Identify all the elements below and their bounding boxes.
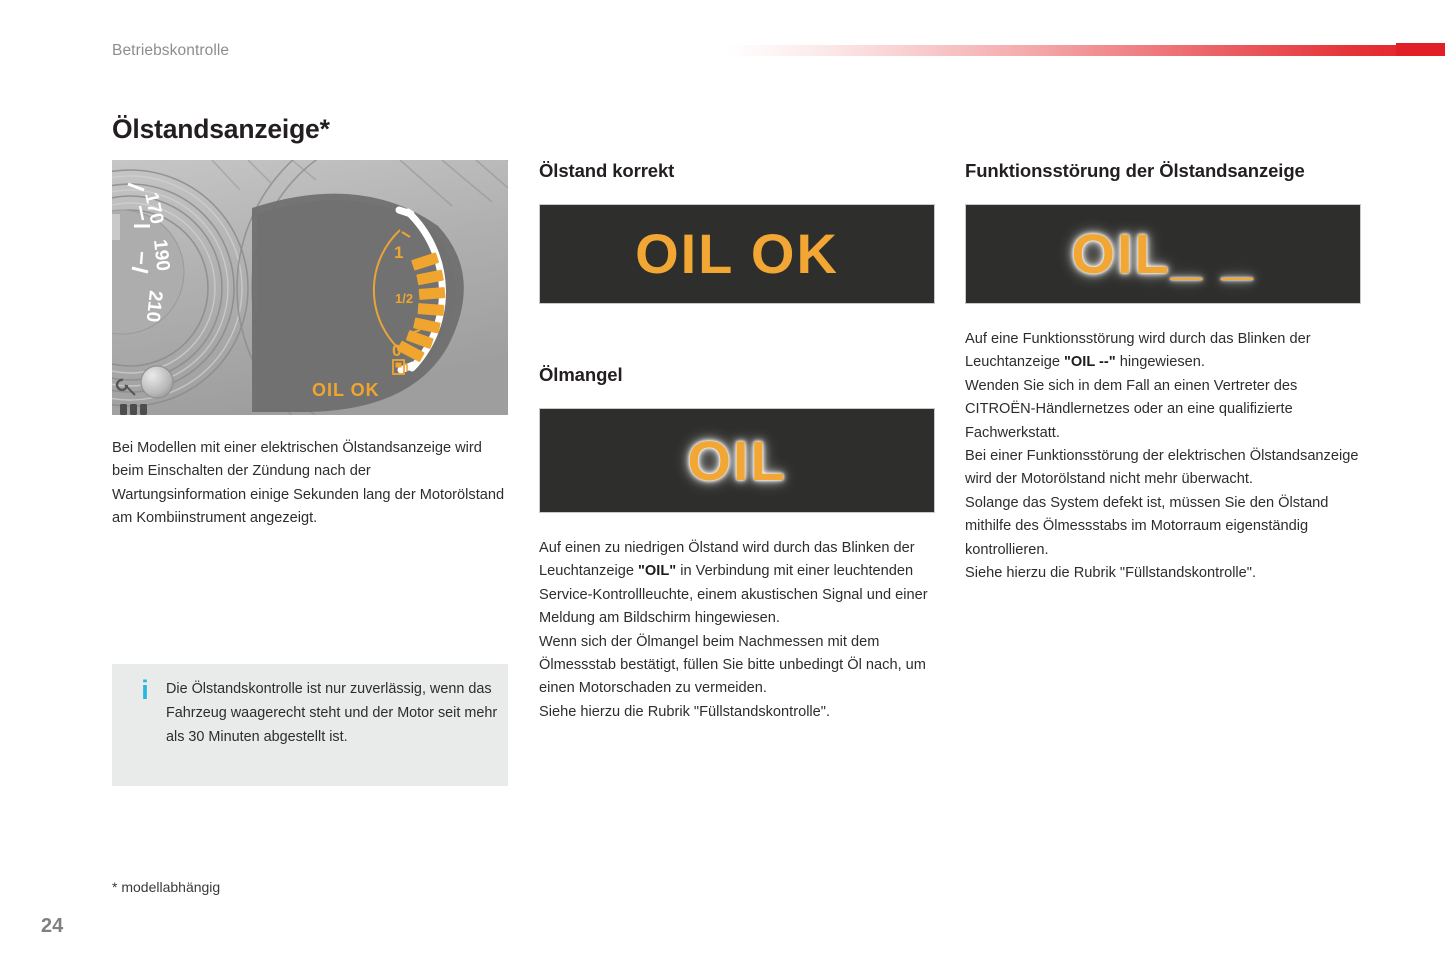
display-panel-oil: OIL [539, 408, 935, 513]
right-p1-bold: "OIL --" [1064, 354, 1116, 370]
document-page: Betriebskontrolle Ölstandsanzeige* [0, 0, 1445, 963]
odometer-icon [120, 404, 147, 415]
right-paragraph-2: Wenden Sie sich in dem Fall an einen Ver… [965, 375, 1361, 445]
fuel-label-1: 1 [394, 243, 403, 262]
display-text-oil: OIL [687, 433, 786, 489]
middle-p1-bold: "OIL" [638, 563, 676, 579]
trip-reset-button [141, 366, 173, 398]
right-paragraph-1: Auf eine Funktionsstörung wird durch das… [965, 328, 1361, 375]
temp-label-210: 210 [142, 289, 166, 323]
left-column-paragraph: Bei Modellen mit einer elektrischen Ölst… [112, 437, 508, 531]
right-paragraph-3: Bei einer Funktionsstörung der elektrisc… [965, 445, 1361, 492]
header-accent-rule-cap [1396, 43, 1445, 56]
display-panel-oil-ok: OIL OK [539, 204, 935, 304]
footnote: * modellabhängig [112, 879, 220, 895]
fuel-label-half: 1/2 [395, 291, 413, 306]
page-number: 24 [41, 915, 63, 938]
middle-paragraph-2: Wenn sich der Ölmangel beim Nachmessen m… [539, 631, 935, 701]
temp-label-190: 190 [149, 238, 173, 272]
info-box-text: Die Ölstandskontrolle ist nur zuverlässi… [166, 677, 498, 749]
header-accent-rule [726, 45, 1445, 56]
column-right: Funktionsstörung der Ölstandsanzeige OIL… [965, 160, 1361, 585]
instrument-cluster-illustration: 170 190 210 [112, 160, 508, 415]
information-icon: i [135, 677, 155, 704]
heading-oelmangel: Ölmangel [539, 364, 935, 386]
display-text-oil-ok: OIL OK [635, 226, 839, 282]
column-middle: Ölstand korrekt OIL OK Ölmangel OIL Auf … [539, 160, 935, 724]
heading-oelstand-korrekt: Ölstand korrekt [539, 160, 935, 182]
heading-funktionsstoerung: Funktionsstörung der Ölstandsanzeige [965, 160, 1361, 182]
middle-paragraph-3: Siehe hierzu die Rubrik "Füllstandskontr… [539, 701, 935, 724]
running-head: Betriebskontrolle [112, 42, 229, 60]
column-left: 170 190 210 [112, 160, 508, 531]
display-panel-oil-fault: OIL_ _ [965, 204, 1361, 304]
page-title: Ölstandsanzeige* [112, 114, 330, 145]
info-box: i Die Ölstandskontrolle ist nur zuverläs… [112, 664, 508, 786]
right-paragraph-5: Siehe hierzu die Rubrik "Füllstandskontr… [965, 562, 1361, 585]
cluster-oil-ok-text: OIL OK [312, 380, 380, 400]
right-paragraph-4: Solange das System defekt ist, müssen Si… [965, 492, 1361, 562]
cluster-svg: 170 190 210 [112, 160, 508, 415]
right-p1-b: hingewiesen. [1116, 354, 1205, 370]
display-text-oil-fault: OIL_ _ [1071, 226, 1254, 282]
middle-paragraph-1: Auf einen zu niedrigen Ölstand wird durc… [539, 537, 935, 631]
fuel-label-0: 0 [392, 341, 401, 360]
